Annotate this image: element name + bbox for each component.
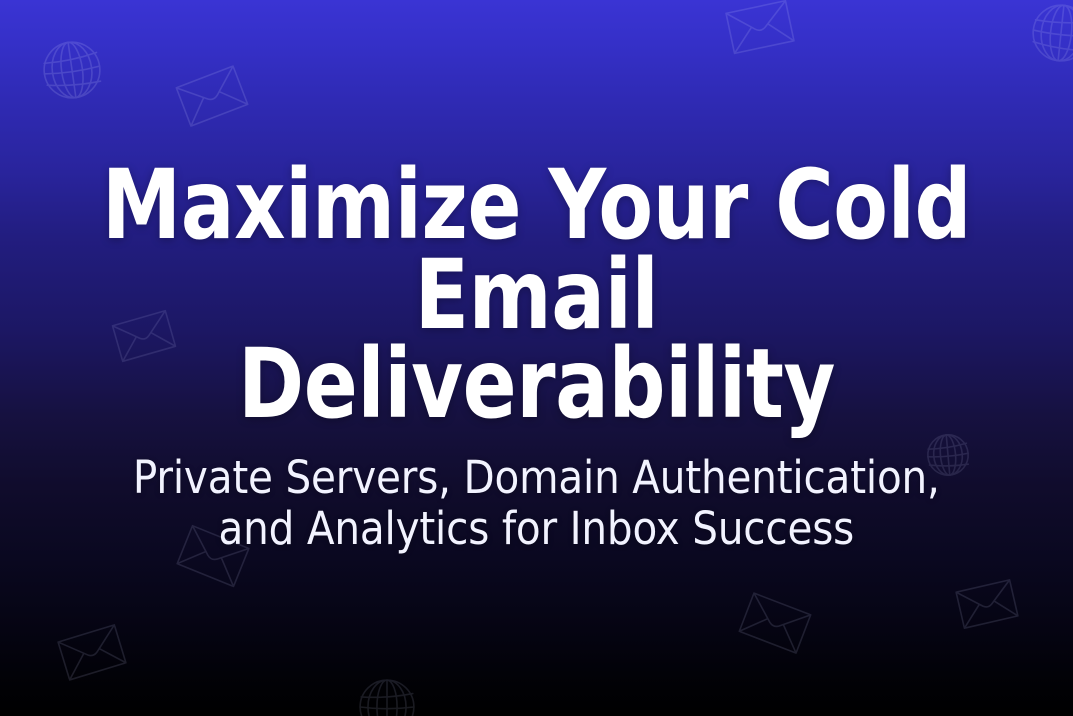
page-subtitle: Private Servers, Domain Authentication, … bbox=[124, 453, 949, 555]
hero-content: Maximize Your Cold Email Deliverability … bbox=[0, 0, 1073, 716]
page-title: Maximize Your Cold Email Deliverability bbox=[91, 161, 982, 429]
hero-banner: Maximize Your Cold Email Deliverability … bbox=[0, 0, 1073, 716]
